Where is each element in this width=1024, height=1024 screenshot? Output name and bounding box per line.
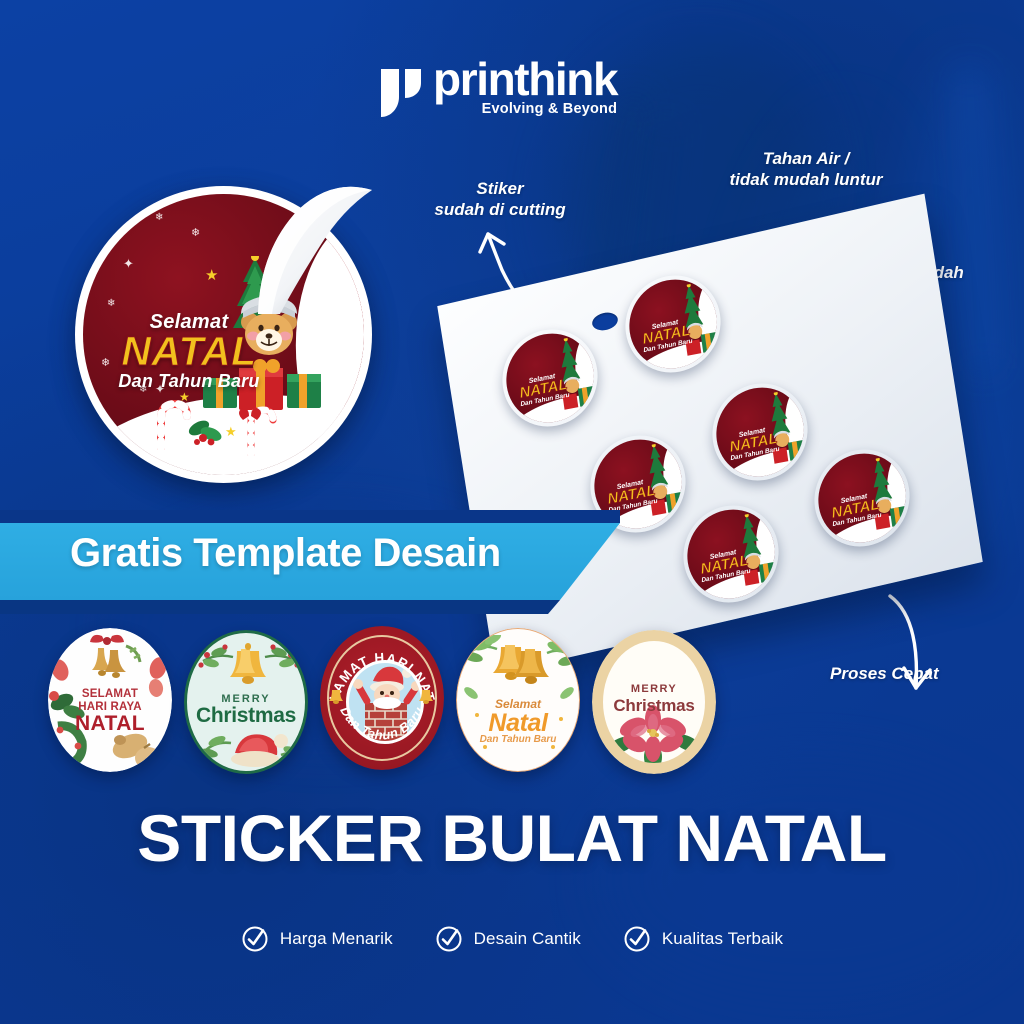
poster-canvas: printhink Evolving & Beyond ❄ ❄ ❄ ❄ ❄ ❄ … <box>0 0 1024 1024</box>
sticker-peel-corner-icon <box>246 184 374 316</box>
hero-line-2: NATAL <box>105 332 273 371</box>
design-sticker-row: SELAMAT HARI RAYA NATAL <box>48 624 738 776</box>
gold-bells-leaves-icon <box>463 635 575 691</box>
snowflake-icon: ❄ <box>117 224 127 238</box>
gold-bells-bow-icon <box>78 632 142 680</box>
feature-item: Harga Menarik <box>241 925 393 953</box>
design-sticker-3[interactable]: SELAMAT HARI NATAL Dan Tahun Baru <box>320 626 444 770</box>
ribbon-bottom-shade <box>0 600 560 614</box>
design-sticker-1[interactable]: SELAMAT HARI RAYA NATAL <box>48 628 172 772</box>
hero-line-3: Dan Tahun Baru <box>105 372 273 392</box>
candy-cane-holly-icon <box>153 398 225 450</box>
snowflake-icon: ❄ <box>191 226 200 239</box>
berry-icon <box>48 656 74 690</box>
brand-logo: printhink Evolving & Beyond <box>379 58 617 119</box>
design-sticker-2[interactable]: MERRY Christmas <box>184 630 308 774</box>
star-icon: ✦ <box>123 256 134 272</box>
gold-bell-mistletoe-icon <box>195 641 303 691</box>
hero-sticker: ❄ ❄ ❄ ❄ ❄ ❄ ✦ ✦ ★ ★ ★ <box>75 186 372 483</box>
snowflake-icon: ❄ <box>155 212 163 223</box>
check-circle-icon <box>241 925 269 953</box>
check-circle-icon <box>623 925 651 953</box>
feature-label: Desain Cantik <box>474 929 581 949</box>
feature-item: Desain Cantik <box>435 925 581 953</box>
santa-hat-icon <box>197 729 301 774</box>
ribbon-label: Gratis Template Desain <box>70 531 501 576</box>
brand-name: printhink <box>433 58 617 100</box>
design-sticker-5-line-2: Christmas <box>603 696 705 716</box>
hero-sticker-text: Selamat NATAL Dan Tahun Baru <box>105 312 273 392</box>
svg-text:Dan Tahun Baru: Dan Tahun Baru <box>337 704 426 743</box>
feature-label: Kualitas Terbaik <box>662 929 783 949</box>
callout-waterproof: Tahan Air / tidak mudah luntur <box>706 148 906 191</box>
ribbon-top-shade <box>0 510 620 523</box>
design-sticker-4[interactable]: Selamat Natal Dan Tahun Baru <box>456 628 580 772</box>
star-icon: ★ <box>205 266 218 284</box>
feature-list: Harga Menarik Desain Cantik Kualitas Ter… <box>0 925 1024 953</box>
check-circle-icon <box>435 925 463 953</box>
small-bell-icon <box>326 684 348 706</box>
design-sticker-1-line-1: SELAMAT <box>48 688 172 700</box>
small-bell-icon <box>416 684 438 706</box>
feature-item: Kualitas Terbaik <box>623 925 783 953</box>
design-sticker-5-line-1: MERRY <box>603 683 705 695</box>
design-sticker-2-line-2: Christmas <box>187 704 305 728</box>
callout-cutting: Stiker sudah di cutting <box>415 178 585 221</box>
page-title: STICKER BULAT NATAL <box>0 800 1024 876</box>
design-sticker-1-line-3: NATAL <box>48 712 172 736</box>
candy-cane-bow-icon <box>235 402 291 456</box>
design-sticker-4-line-3: Dan Tahun Baru <box>457 734 579 745</box>
background-texture-blob <box>600 760 1020 1000</box>
printhink-leaf-mark-icon <box>379 67 423 119</box>
feature-label: Harga Menarik <box>280 929 393 949</box>
design-sticker-5[interactable]: MERRY Christmas <box>592 630 716 774</box>
snowflake-icon: ❄ <box>107 298 115 309</box>
